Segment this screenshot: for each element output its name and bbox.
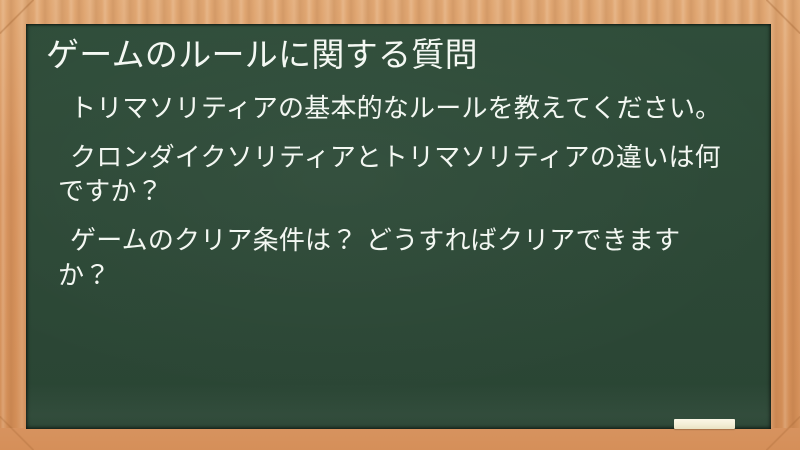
list-item: トリマソリティアの基本的なルールを教えてください。 [58, 92, 731, 127]
blackboard-slide: ゲームのルールに関する質問 トリマソリティアの基本的なルールを教えてください。 … [0, 0, 800, 450]
wood-frame-bottom-rail [0, 428, 800, 450]
page-title: ゲームのルールに関する質問 [36, 34, 749, 76]
chalk-stick-icon [674, 419, 735, 429]
list-item: クロンダイクソリティアとトリマソリティアの違いは何ですか？ [58, 141, 731, 210]
chalkboard-content: ゲームのルールに関する質問 トリマソリティアの基本的なルールを教えてください。 … [26, 24, 771, 429]
chalkboard-surface: ゲームのルールに関する質問 トリマソリティアの基本的なルールを教えてください。 … [26, 24, 771, 429]
list-item: ゲームのクリア条件は？ どうすればクリアできますか？ [58, 224, 731, 293]
question-list: トリマソリティアの基本的なルールを教えてください。 クロンダイクソリティアとトリ… [36, 92, 749, 293]
